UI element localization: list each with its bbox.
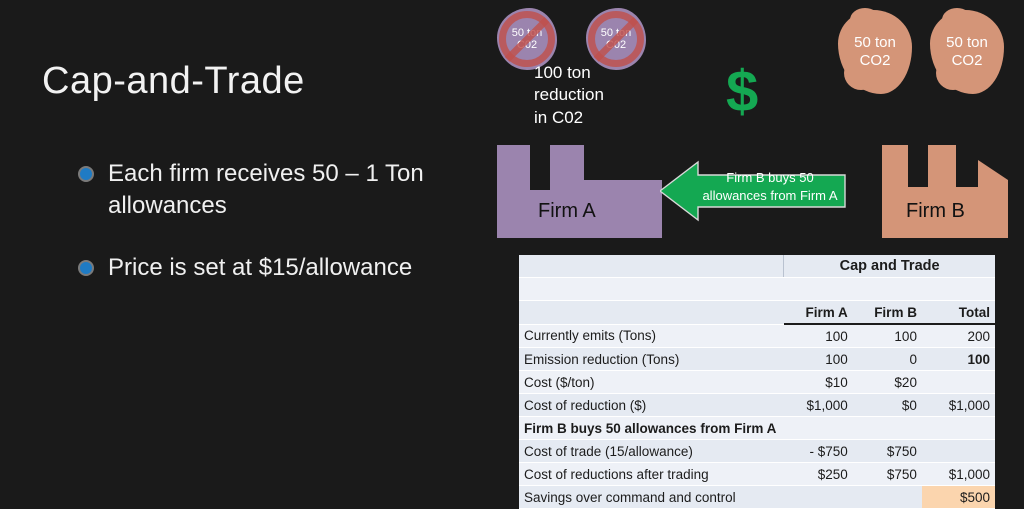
cell-firm-b: $750	[853, 463, 922, 486]
cell-total: 100	[922, 348, 995, 371]
cell-firm-b: $750	[853, 440, 922, 463]
cell-firm-a: 100	[784, 348, 853, 371]
cell-total-highlighted: $500	[922, 486, 995, 509]
cloud-line-1: 50 ton	[854, 34, 896, 52]
table-cell-empty	[922, 278, 995, 301]
table-header-blank	[519, 301, 784, 325]
trade-arrow-label: Firm B buys 50 allowances from Firm A	[700, 169, 840, 204]
cell-firm-b: 100	[853, 324, 922, 348]
cell-firm-a: - $750	[784, 440, 853, 463]
table-header-firm-b: Firm B	[853, 301, 922, 325]
row-label: Currently emits (Tons)	[519, 324, 784, 348]
section-label: Firm B buys 50 allowances from Firm A	[519, 417, 995, 440]
firm-a-factory-shape	[492, 135, 667, 240]
table-header-row: Firm A Firm B Total	[519, 301, 995, 325]
bullet-text: Each firm receives 50 – 1 Ton allowances	[108, 158, 478, 223]
cell-total: $1,000	[922, 394, 995, 417]
firm-b-factory: Firm B	[850, 135, 1024, 245]
firm-a-label: Firm A	[538, 200, 596, 223]
list-item: Each firm receives 50 – 1 Ton allowances	[78, 158, 478, 223]
firm-b-label: Firm B	[906, 200, 965, 223]
co2-cloud-icon: 50 ton CO2	[930, 10, 1004, 94]
row-label: Cost ($/ton)	[519, 371, 784, 394]
table-header-total: Total	[922, 301, 995, 325]
row-label: Emission reduction (Tons)	[519, 348, 784, 371]
row-label: Cost of trade (15/allowance)	[519, 440, 784, 463]
row-label: Cost of reductions after trading	[519, 463, 784, 486]
cell-firm-a: 100	[784, 324, 853, 348]
row-label: Cost of reduction ($)	[519, 394, 784, 417]
cell-firm-b: $20	[853, 371, 922, 394]
dollar-sign-icon: $	[726, 63, 758, 121]
bullet-dot-icon	[78, 166, 94, 182]
cell-total	[922, 371, 995, 394]
cell-firm-a: $1,000	[784, 394, 853, 417]
table-row: Cost of trade (15/allowance) - $750 $750	[519, 440, 995, 463]
cell-firm-a: $10	[784, 371, 853, 394]
table-row-spacer	[519, 278, 995, 301]
co2-cloud-text: 50 ton CO2	[838, 10, 912, 94]
cloud-line-1: 50 ton	[946, 34, 988, 52]
table-row: Savings over command and control $500	[519, 486, 995, 509]
cell-firm-a	[784, 486, 853, 509]
trade-arrow: Firm B buys 50 allowances from Firm A	[660, 160, 846, 222]
page-title: Cap-and-Trade	[42, 60, 305, 103]
firm-b-factory-shape	[850, 135, 1024, 240]
table-row: Emission reduction (Tons) 100 0 100	[519, 348, 995, 371]
list-item: Price is set at $15/allowance	[78, 252, 478, 284]
cell-total: 200	[922, 324, 995, 348]
co2-cloud-icon: 50 ton CO2	[838, 10, 912, 94]
table-cell-empty	[519, 278, 784, 301]
no-co2-badge-icon: 50 ton C02	[586, 8, 646, 70]
cap-and-trade-table: Cap and Trade Firm A Firm B Total Curren…	[519, 255, 995, 509]
cell-firm-b: 0	[853, 348, 922, 371]
table-cell-empty	[784, 278, 853, 301]
table-header-firm-a: Firm A	[784, 301, 853, 325]
no-co2-badge-icon: 50 ton C02	[497, 8, 557, 70]
firm-a-factory: Firm A	[492, 135, 667, 245]
cell-firm-a: $250	[784, 463, 853, 486]
table-caption: Cap and Trade	[784, 255, 995, 278]
table-row: Cost of reduction ($) $1,000 $0 $1,000	[519, 394, 995, 417]
row-label: Savings over command and control	[519, 486, 784, 509]
table-row: Cost ($/ton) $10 $20	[519, 371, 995, 394]
cell-firm-b	[853, 486, 922, 509]
table-section-row: Firm B buys 50 allowances from Firm A	[519, 417, 995, 440]
cloud-line-2: CO2	[952, 52, 983, 70]
cloud-line-2: CO2	[860, 52, 891, 70]
table-cell-empty	[519, 255, 784, 278]
bullet-text: Price is set at $15/allowance	[108, 252, 412, 284]
reduction-caption: 100 tonreductionin C02	[534, 62, 604, 129]
table-cell-empty	[853, 278, 922, 301]
cell-total: $1,000	[922, 463, 995, 486]
cell-firm-b: $0	[853, 394, 922, 417]
table-row: Cost of reductions after trading $250 $7…	[519, 463, 995, 486]
cell-total	[922, 440, 995, 463]
co2-cloud-text: 50 ton CO2	[930, 10, 1004, 94]
bullet-dot-icon	[78, 260, 94, 276]
table-row: Currently emits (Tons) 100 100 200	[519, 324, 995, 348]
table-row-caption: Cap and Trade	[519, 255, 995, 278]
